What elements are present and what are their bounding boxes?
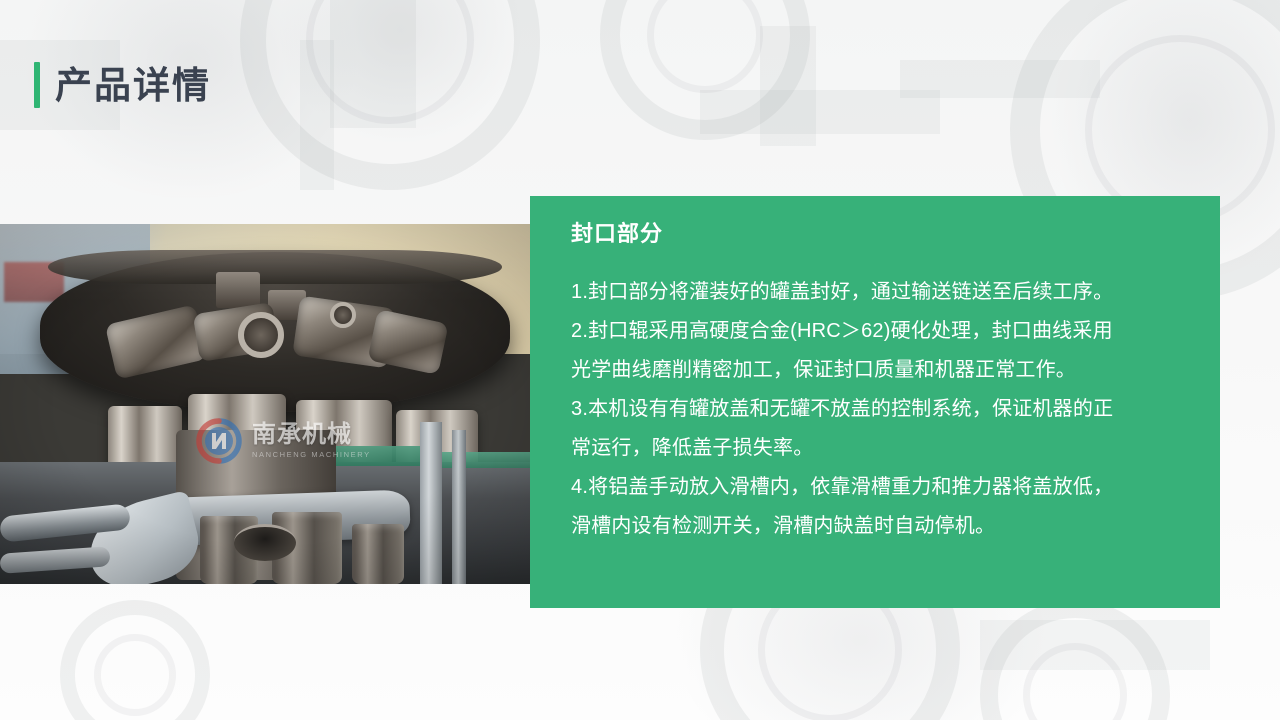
photo-vignette	[0, 224, 538, 584]
background-gear-icon	[60, 600, 210, 720]
watermark: 南承机械 NANCHENG MACHINERY	[196, 418, 371, 464]
page-title-group: 产品详情	[34, 62, 211, 108]
info-panel-heading: 封口部分	[571, 221, 1184, 247]
info-panel-body: 1.封口部分将灌装好的罐盖封好，通过输送链送至后续工序。 2.封口辊采用高硬度合…	[571, 273, 1184, 546]
info-panel-line: 3.本机设有有罐放盖和无罐不放盖的控制系统，保证机器的正	[571, 390, 1184, 429]
info-panel-line: 滑槽内设有检测开关，滑槽内缺盖时自动停机。	[571, 507, 1184, 546]
info-panel: 封口部分 1.封口部分将灌装好的罐盖封好，通过输送链送至后续工序。 2.封口辊采…	[530, 196, 1220, 608]
title-accent-bar	[34, 62, 40, 108]
info-panel-line: 2.封口辊采用高硬度合金(HRC＞62)硬化处理，封口曲线采用	[571, 312, 1184, 351]
watermark-brand-en: NANCHENG MACHINERY	[252, 451, 371, 459]
watermark-brand-cn: 南承机械	[252, 423, 371, 447]
info-panel-line: 光学曲线磨削精密加工，保证封口质量和机器正常工作。	[571, 351, 1184, 390]
watermark-text-group: 南承机械 NANCHENG MACHINERY	[252, 423, 371, 459]
info-panel-line: 常运行，降低盖子损失率。	[571, 429, 1184, 468]
product-photo	[0, 224, 538, 584]
info-panel-line: 4.将铝盖手动放入滑槽内，依靠滑槽重力和推力器将盖放低，	[571, 468, 1184, 507]
page-title: 产品详情	[55, 67, 211, 104]
product-detail-slide: 产品详情	[0, 0, 1280, 720]
nancheng-logo-icon	[196, 418, 242, 464]
background-gear-icon	[240, 0, 540, 190]
background-gear-icon	[980, 600, 1170, 720]
info-panel-line: 1.封口部分将灌装好的罐盖封好，通过输送链送至后续工序。	[571, 273, 1184, 312]
